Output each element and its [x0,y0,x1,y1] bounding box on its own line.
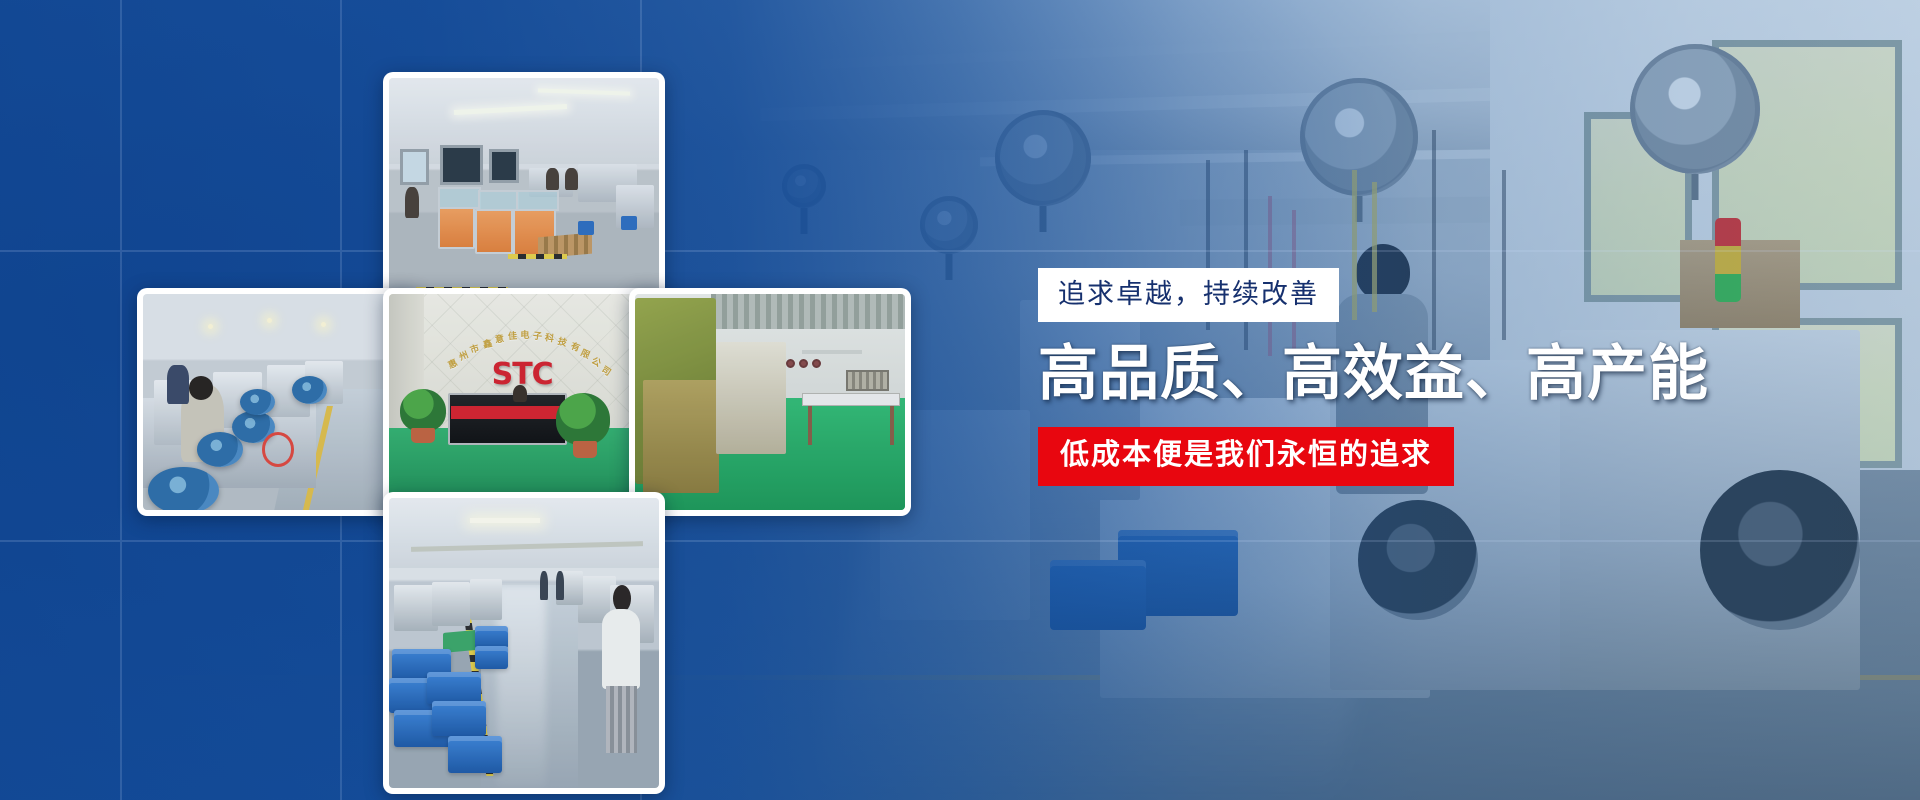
photo-inner [143,294,413,510]
scene-blue-crate [432,701,486,736]
scene-plant [556,393,610,445]
scene-blue-crate [475,646,507,669]
scene-grinder-machine [716,342,786,454]
scene-component-reel [148,467,218,510]
scene-worker [167,365,189,404]
scene-receptionist [513,385,527,402]
scene-stool [621,216,637,230]
scene-plant [400,389,446,432]
scene-work-table [802,393,899,406]
photo-inner [389,78,659,316]
collage-photo-center[interactable]: 惠 州 市 鑫 意 佳 电 子 科 技 有 限 公 司 [383,288,665,516]
banner-eyebrow: 追求卓越，持续改善 [1038,268,1339,322]
photo-collage: 惠 州 市 鑫 意 佳 电 子 科 技 有 限 公 司 [137,72,982,732]
scene-machine [470,579,502,620]
scene-worker [405,187,419,218]
scene-machine-shop [635,294,905,510]
scene-tool-panel [846,370,889,392]
scene-worker [556,571,564,600]
scene-machine [432,582,470,626]
scene-dial [812,359,821,368]
scene-factory-floor [389,78,659,316]
scene-component-reel [240,389,275,415]
photo-inner: 惠 州 市 鑫 意 佳 电 子 科 技 有 限 公 司 [389,294,659,510]
grid-line [120,0,122,800]
worker-head [613,585,631,612]
banner-copy: 追求卓越，持续改善 高品质、高效益、高产能 低成本便是我们永恒的追求 [1038,268,1678,486]
scene-table-legs [808,406,894,445]
banner-headline: 高品质、高效益、高产能 [1038,342,1678,407]
collage-photo-bottom[interactable] [383,492,665,794]
scene-assembly-aisle [389,498,659,788]
hero-banner: 惠 州 市 鑫 意 佳 电 子 科 技 有 限 公 司 [0,0,1920,800]
scene-worker-head [189,376,213,400]
photo-inner [389,498,659,788]
scene-production-line [143,294,413,510]
scene-stool [578,221,594,235]
scene-blue-crate [427,672,481,704]
scene-reception-desk [448,393,567,445]
scene-flower-pot [411,428,435,443]
scene-worker [540,571,548,600]
banner-tagline: 低成本便是我们永恒的追求 [1038,427,1454,486]
scene-window [489,149,519,182]
scene-worker [546,168,560,189]
scene-lamp [321,322,326,327]
scene-dial [786,359,795,368]
scene-blue-crate [448,736,502,774]
scene-red-coil [262,432,294,467]
worker-legs [606,686,637,753]
scene-dial [799,359,808,368]
scene-component-reel [292,376,327,404]
scene-desk-red-stripe [451,406,564,419]
scene-orange-cubicle [438,207,476,250]
worker-torso [602,609,640,690]
scene-reception: 惠 州 市 鑫 意 佳 电 子 科 技 有 限 公 司 [389,294,659,510]
scene-lamp [208,324,213,329]
scene-window [400,149,430,185]
scene-metal-roof [711,294,905,329]
scene-lamp [267,318,272,323]
scene-window [440,145,483,185]
scene-floor-tape [508,254,567,259]
scene-foreground-worker [600,585,643,753]
scene-ceiling [389,498,659,568]
scene-orange-cubicle [475,209,513,254]
collage-photo-right[interactable] [629,288,911,516]
scene-floor-reflection [497,585,546,788]
scene-worker [565,168,579,189]
scene-wall-lamp [802,350,861,354]
scene-flower-pot [573,441,597,458]
scene-milling-machine-base [643,380,719,492]
photo-inner [635,294,905,510]
scene-component-reel [197,432,243,467]
collage-photo-top[interactable] [383,72,665,322]
scene-machine [394,585,437,631]
scene-light-tube [470,518,540,523]
collage-photo-left[interactable] [137,288,419,516]
scene-glass-panel [438,187,481,208]
